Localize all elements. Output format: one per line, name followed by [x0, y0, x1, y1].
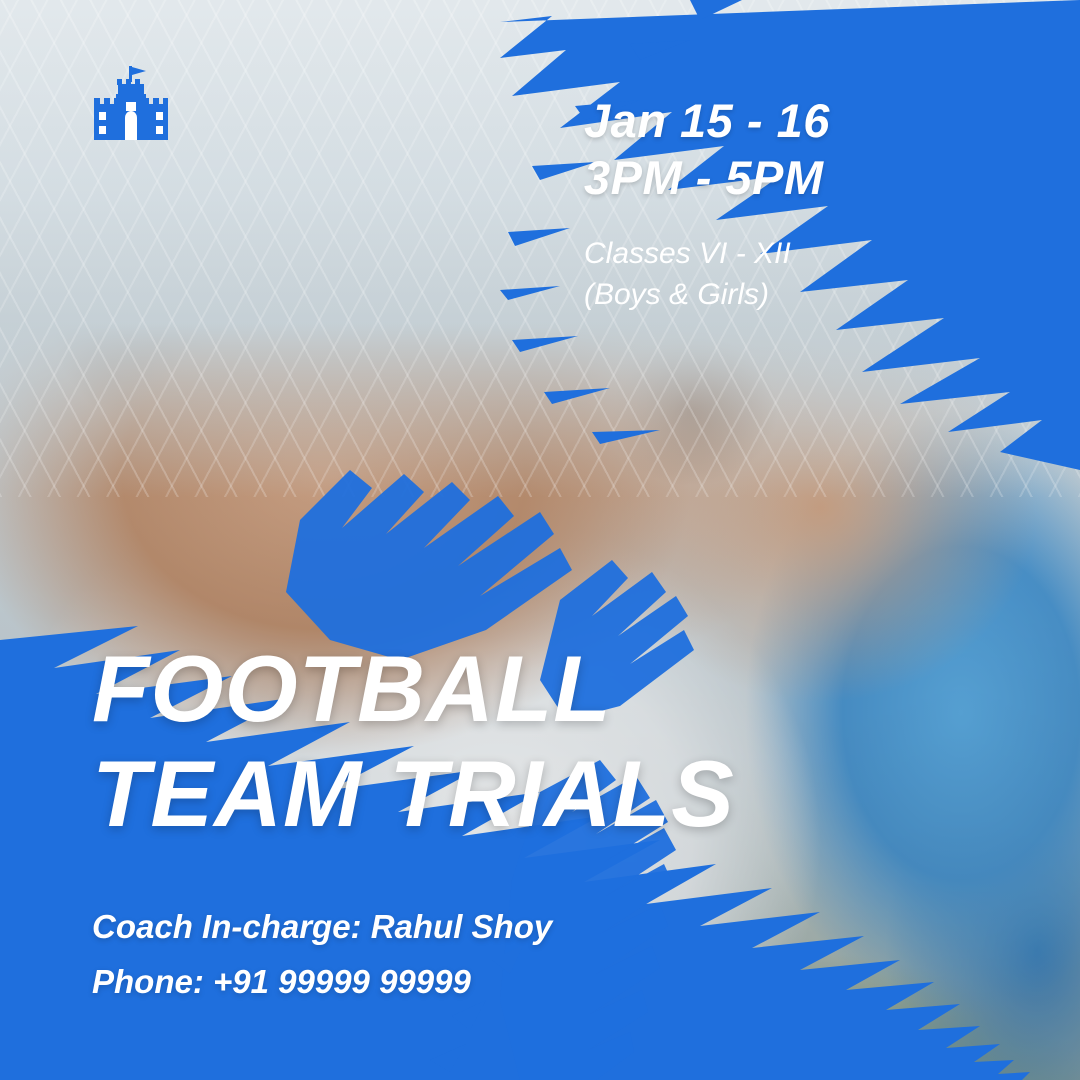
contact-phone: Phone: +91 99999 99999: [92, 955, 552, 1010]
event-eligibility: (Boys & Girls): [584, 274, 1014, 315]
mid-brush-streak-1: [286, 470, 572, 660]
school-building-icon: [88, 64, 174, 150]
title-line-1: FOOTBALL: [92, 636, 735, 741]
event-classes: Classes VI - XII: [584, 233, 1014, 274]
event-date: Jan 15 - 16: [584, 92, 1014, 149]
poster-title-block: FOOTBALL TEAM TRIALS: [92, 636, 735, 847]
title-line-2: TEAM TRIALS: [92, 741, 735, 846]
poster-canvas: Jan 15 - 16 3PM - 5PM Classes VI - XII (…: [0, 0, 1080, 1080]
event-time: 3PM - 5PM: [584, 149, 1014, 206]
contact-block: Coach In-charge: Rahul Shoy Phone: +91 9…: [92, 900, 552, 1010]
event-info-block: Jan 15 - 16 3PM - 5PM Classes VI - XII (…: [584, 92, 1014, 315]
coach-name: Coach In-charge: Rahul Shoy: [92, 900, 552, 955]
